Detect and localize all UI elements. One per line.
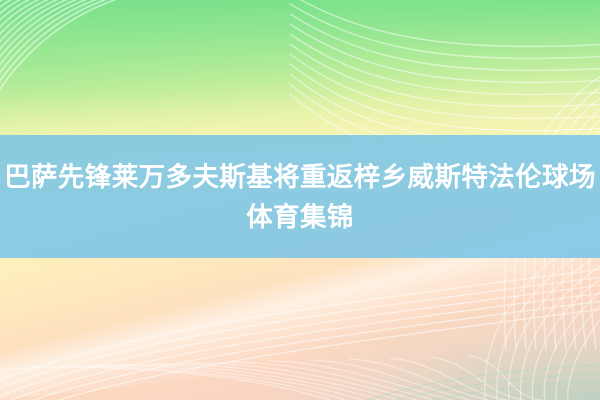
banner-graphic: 巴萨先锋莱万多夫斯基将重返梓乡威斯特法伦球场 体育集锦 xyxy=(0,0,600,400)
headline-line-2: 体育集锦 xyxy=(246,197,354,237)
headline-banner: 巴萨先锋莱万多夫斯基将重返梓乡威斯特法伦球场 体育集锦 xyxy=(0,135,600,258)
headline-line-1: 巴萨先锋莱万多夫斯基将重返梓乡威斯特法伦球场 xyxy=(4,157,596,197)
